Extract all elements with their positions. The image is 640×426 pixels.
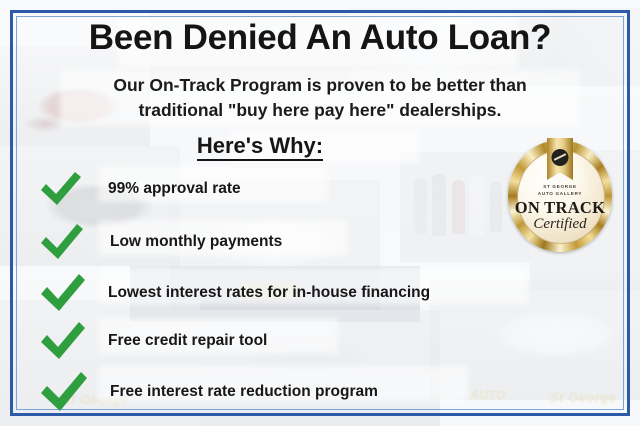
certification-seal-badge: ST GEORGE AUTO GALLERY ON TRACK Certifie… bbox=[508, 140, 612, 252]
list-item: 99% approval rate bbox=[38, 170, 241, 208]
seal-brand-text: ST GEORGE AUTO GALLERY bbox=[508, 184, 612, 197]
auto-loan-ad-banner: St George AUTO St George Been Denied An … bbox=[0, 0, 640, 426]
check-icon bbox=[38, 170, 84, 208]
check-icon bbox=[38, 272, 88, 314]
list-item-label: Lowest interest rates for in-house finan… bbox=[108, 284, 430, 302]
check-icon bbox=[38, 370, 90, 414]
check-icon bbox=[38, 320, 88, 362]
list-item-label: 99% approval rate bbox=[108, 180, 241, 198]
seal-main-text: ON TRACK bbox=[508, 198, 612, 218]
list-item: Free interest rate reduction program bbox=[38, 370, 378, 414]
check-icon bbox=[38, 222, 86, 262]
seal-brand-line-2: AUTO GALLERY bbox=[508, 191, 612, 198]
list-item-label: Free credit repair tool bbox=[108, 332, 267, 350]
list-item-label: Low monthly payments bbox=[110, 233, 282, 251]
seal-sub-text: Certified bbox=[508, 216, 612, 233]
car-emblem-icon bbox=[552, 149, 569, 166]
list-item-label: Free interest rate reduction program bbox=[110, 383, 378, 401]
ad-content: Been Denied An Auto Loan? Our On-Track P… bbox=[0, 0, 640, 426]
seal-brand-line-1: ST GEORGE bbox=[508, 184, 612, 191]
list-item: Lowest interest rates for in-house finan… bbox=[38, 272, 430, 314]
list-item: Low monthly payments bbox=[38, 222, 282, 262]
list-item: Free credit repair tool bbox=[38, 320, 267, 362]
